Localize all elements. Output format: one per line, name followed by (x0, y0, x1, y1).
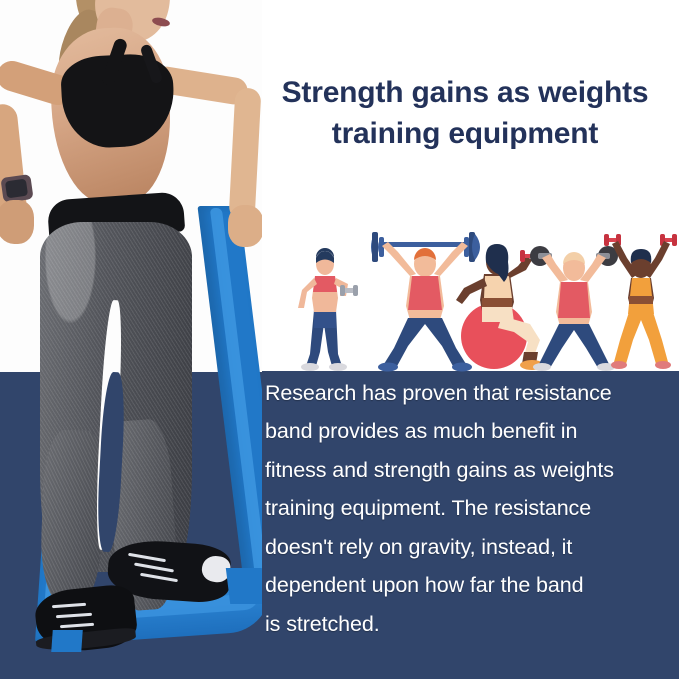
figure2-head (414, 248, 436, 277)
athlete-right-hand (228, 205, 262, 247)
body-line-5: doesn't rely on gravity, instead, it (265, 528, 669, 566)
body-line-7: is stretched. (265, 605, 669, 643)
headline-line-1: Strength gains as weights (265, 72, 665, 113)
body-paragraph: Research has proven that resistance band… (265, 374, 669, 643)
figure4-legs (538, 324, 610, 368)
athlete-photo (0, 0, 262, 679)
figure4-head (563, 252, 585, 281)
figure5-legs (614, 312, 668, 364)
body-line-2: band provides as much benefit in (265, 412, 669, 450)
figure5-head (631, 249, 652, 278)
figure1-head (316, 248, 334, 275)
infographic-canvas: Strength gains as weights training equip… (0, 0, 679, 679)
figure1-dumbbell (340, 285, 358, 296)
body-line-1: Research has proven that resistance (265, 374, 669, 412)
figure1-torso (312, 276, 338, 312)
athlete-left-shin (39, 429, 105, 606)
figure-woman-arms-raised (602, 228, 679, 372)
figure5-shoes (611, 361, 671, 369)
headline: Strength gains as weights training equip… (265, 72, 665, 155)
figure4-torso (556, 282, 592, 326)
headline-line-2: training equipment (265, 113, 665, 154)
athlete-left-hand (0, 200, 34, 244)
body-line-6: dependent upon how far the band (265, 566, 669, 604)
body-line-3: fitness and strength gains as weights (265, 451, 669, 489)
figure1-shoes (301, 363, 347, 371)
figure5-torso (628, 278, 654, 314)
exercise-illustration-strip (262, 210, 679, 372)
smartwatch-face (5, 179, 28, 199)
body-line-4: training equipment. The resistance (265, 489, 669, 527)
figure2-torso (406, 276, 444, 320)
figure-woman-with-dumbbell (286, 246, 364, 372)
figure1-legs (306, 310, 342, 366)
resistance-band-under-right-shoe (226, 568, 262, 604)
resistance-band-under-left-shoe (51, 630, 83, 652)
